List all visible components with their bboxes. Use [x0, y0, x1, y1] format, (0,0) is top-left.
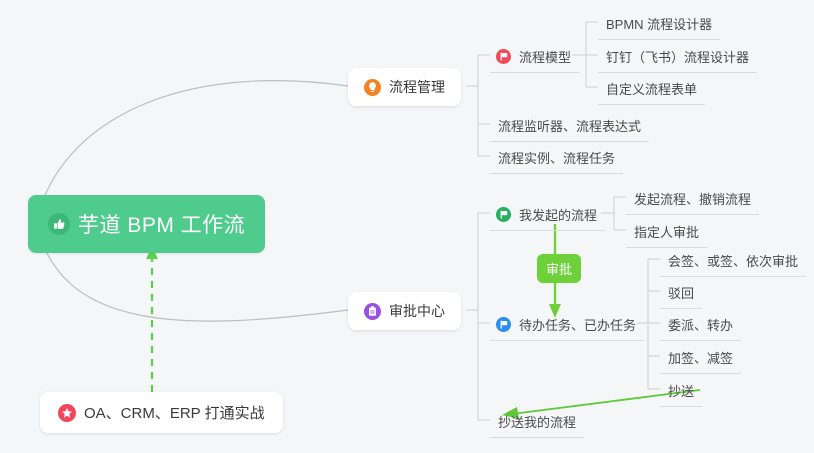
dashed-arrow-to-root [146, 246, 158, 392]
node-label: BPMN 流程设计器 [606, 14, 712, 33]
floating-card-label: OA、CRM、ERP 打通实战 [84, 402, 265, 423]
node-label: 我发起的流程 [519, 205, 597, 224]
node-cc[interactable]: 抄送 [660, 376, 702, 407]
branch-label: 流程管理 [389, 77, 445, 97]
node-add-remove-sign[interactable]: 加签、减签 [660, 343, 741, 374]
node-process-model[interactable]: 流程模型 [490, 42, 579, 73]
node-start-cancel-process[interactable]: 发起流程、撤销流程 [626, 184, 759, 215]
node-label: 驳回 [668, 283, 694, 302]
node-label: 抄送 [668, 381, 694, 400]
flag-icon [496, 49, 511, 64]
root-node[interactable]: 芋道 BPM 工作流 [28, 195, 265, 253]
node-label: 钉钉（飞书）流程设计器 [606, 47, 749, 66]
mindmap-canvas: 芋道 BPM 工作流 流程管理 流程模型 BPMN 流程设计器 钉钉（飞书）流程… [0, 0, 814, 453]
branch-label: 审批中心 [389, 301, 445, 321]
edge-label-text: 审批 [546, 259, 572, 278]
node-dingtalk-feishu-designer[interactable]: 钉钉（飞书）流程设计器 [598, 42, 757, 73]
node-label: 会签、或签、依次审批 [668, 251, 798, 270]
edge-label-approval: 审批 [537, 254, 581, 283]
branch-approval-center[interactable]: 审批中心 [348, 292, 461, 330]
node-label: 加签、减签 [668, 348, 733, 367]
node-label: 委派、转办 [668, 315, 733, 334]
node-cc-to-me[interactable]: 抄送我的流程 [490, 407, 584, 438]
node-label: 发起流程、撤销流程 [634, 189, 751, 208]
node-process-instance[interactable]: 流程实例、流程任务 [490, 143, 623, 174]
node-bpmn-designer[interactable]: BPMN 流程设计器 [598, 9, 720, 40]
node-my-started-process[interactable]: 我发起的流程 [490, 200, 605, 231]
clipboard-icon [364, 303, 381, 320]
node-label: 指定人审批 [634, 222, 699, 241]
floating-card-integration[interactable]: OA、CRM、ERP 打通实战 [40, 392, 283, 433]
node-label: 流程实例、流程任务 [498, 148, 615, 167]
flag-icon [496, 207, 511, 222]
branch-process-management[interactable]: 流程管理 [348, 68, 461, 106]
node-process-listener[interactable]: 流程监听器、流程表达式 [490, 111, 649, 142]
flag-icon [496, 317, 511, 332]
node-label: 自定义流程表单 [606, 79, 697, 98]
thumbs-up-icon [48, 213, 70, 235]
node-todo-done-tasks[interactable]: 待办任务、已办任务 [490, 310, 644, 341]
node-countersign[interactable]: 会签、或签、依次审批 [660, 246, 806, 277]
node-label: 流程监听器、流程表达式 [498, 116, 641, 135]
star-icon [58, 404, 76, 422]
node-delegate-transfer[interactable]: 委派、转办 [660, 310, 741, 341]
node-label: 流程模型 [519, 47, 571, 66]
root-label: 芋道 BPM 工作流 [78, 209, 245, 239]
node-assignee-approval[interactable]: 指定人审批 [626, 217, 707, 248]
node-reject[interactable]: 驳回 [660, 278, 702, 309]
node-custom-form[interactable]: 自定义流程表单 [598, 74, 705, 105]
node-label: 待办任务、已办任务 [519, 315, 636, 334]
node-label: 抄送我的流程 [498, 412, 576, 431]
lightbulb-icon [364, 79, 381, 96]
